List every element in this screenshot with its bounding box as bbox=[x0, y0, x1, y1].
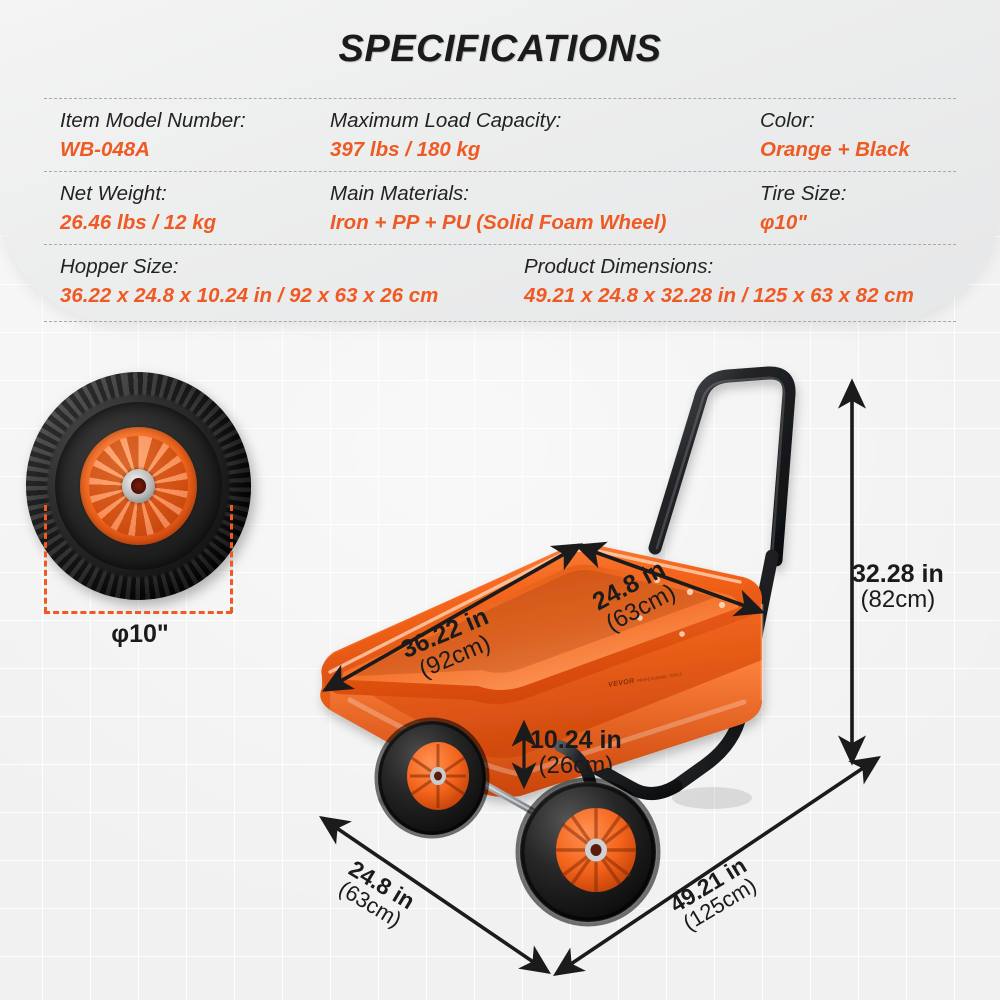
spec-label: Product Dimensions: bbox=[524, 254, 914, 280]
spec-label: Hopper Size: bbox=[60, 254, 438, 280]
specifications-panel: SPECIFICATIONS Item Model Number: WB-048… bbox=[0, 0, 1000, 322]
spec-label: Color: bbox=[760, 108, 910, 134]
spec-value: 26.46 lbs / 12 kg bbox=[60, 210, 216, 237]
spec-value: WB-048A bbox=[60, 137, 246, 164]
spec-cell-tire-size: Tire Size: φ10" bbox=[760, 181, 846, 236]
spec-cell-color: Color: Orange + Black bbox=[760, 108, 910, 163]
specifications-table: Item Model Number: WB-048A Maximum Load … bbox=[44, 98, 956, 322]
page-title: SPECIFICATIONS bbox=[0, 28, 1000, 71]
spec-value: 36.22 x 24.8 x 10.24 in / 92 x 63 x 26 c… bbox=[60, 283, 438, 310]
spec-cell-net-weight: Net Weight: 26.46 lbs / 12 kg bbox=[60, 181, 216, 236]
spec-label: Item Model Number: bbox=[60, 108, 246, 134]
spec-cell-main-materials: Main Materials: Iron + PP + PU (Solid Fo… bbox=[330, 181, 666, 236]
spec-label: Main Materials: bbox=[330, 181, 666, 207]
spec-cell-product-dimensions: Product Dimensions: 49.21 x 24.8 x 32.28… bbox=[524, 254, 914, 309]
table-row: Hopper Size: 36.22 x 24.8 x 10.24 in / 9… bbox=[44, 244, 956, 322]
spec-value: 397 lbs / 180 kg bbox=[330, 137, 561, 164]
spec-value: Orange + Black bbox=[760, 137, 910, 164]
spec-label: Net Weight: bbox=[60, 181, 216, 207]
table-row: Net Weight: 26.46 lbs / 12 kg Main Mater… bbox=[44, 171, 956, 244]
spec-label: Maximum Load Capacity: bbox=[330, 108, 561, 134]
table-row: Item Model Number: WB-048A Maximum Load … bbox=[44, 98, 956, 171]
spec-value: Iron + PP + PU (Solid Foam Wheel) bbox=[330, 210, 666, 237]
spec-cell-item-model-number: Item Model Number: WB-048A bbox=[60, 108, 246, 163]
spec-value: φ10" bbox=[760, 210, 846, 237]
spec-cell-hopper-size: Hopper Size: 36.22 x 24.8 x 10.24 in / 9… bbox=[60, 254, 438, 309]
spec-value: 49.21 x 24.8 x 32.28 in / 125 x 63 x 82 … bbox=[524, 283, 914, 310]
spec-label: Tire Size: bbox=[760, 181, 846, 207]
spec-cell-maximum-load-capacity: Maximum Load Capacity: 397 lbs / 180 kg bbox=[330, 108, 561, 163]
